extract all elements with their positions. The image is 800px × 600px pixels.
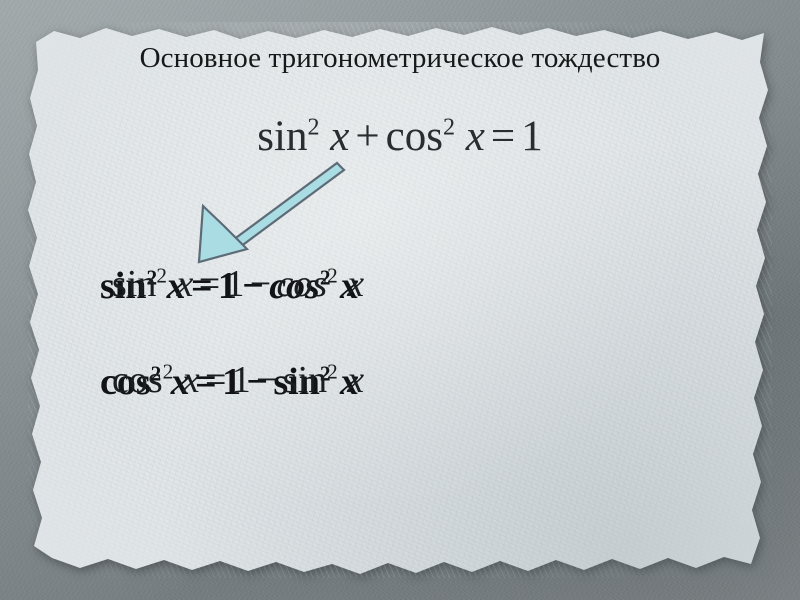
derived-identity-cos: cos2 x=1−sin2 x cos2 x=1−sin2 x bbox=[0, 358, 800, 418]
eq2g-function: cos bbox=[112, 359, 163, 401]
eq1g-rhs-exponent: 2 bbox=[327, 263, 338, 287]
formula-cos-exponent: 2 bbox=[443, 115, 455, 141]
formula-equals-operator: = bbox=[485, 113, 521, 160]
eq2g-variable: x bbox=[183, 359, 200, 401]
eq1g-minus: − bbox=[244, 263, 276, 305]
eq2g-equals: = bbox=[200, 359, 232, 401]
eq1g-equals: = bbox=[193, 263, 225, 305]
derived-identity-sin: sin2 x=1−cos2 x sin2 x=1−cos2 x bbox=[0, 262, 800, 322]
eq1g-rhs-function: cos bbox=[277, 263, 328, 305]
eq1g-exponent: 2 bbox=[156, 263, 167, 287]
eq2g-rhs-variable: x bbox=[347, 359, 364, 401]
eq2g-minus: − bbox=[251, 359, 283, 401]
eq2g-exponent: 2 bbox=[163, 359, 174, 383]
derived-identity-sin-layer-ghost: sin2 x=1−cos2 x bbox=[112, 262, 364, 306]
derived-identity-cos-layer-ghost: cos2 x=1−sin2 x bbox=[112, 358, 364, 402]
eq1g-rhs-variable: x bbox=[347, 263, 364, 305]
formula-result-value: 1 bbox=[521, 113, 543, 160]
formula-cos-function: cos bbox=[386, 113, 443, 160]
eq2g-one: 1 bbox=[232, 359, 251, 401]
down-left-arrow-icon bbox=[186, 150, 362, 276]
slide-canvas: Основное тригонометрическое тождество si… bbox=[0, 0, 800, 600]
page-title: Основное тригонометрическое тождество bbox=[0, 42, 800, 75]
eq1g-variable: x bbox=[177, 263, 194, 305]
eq2g-rhs-function: sin bbox=[283, 359, 327, 401]
formula-cos-variable: x bbox=[466, 113, 485, 160]
eq1g-one: 1 bbox=[225, 263, 244, 305]
formula-sin-exponent: 2 bbox=[307, 115, 319, 141]
eq1g-function: sin bbox=[112, 263, 156, 305]
eq2g-rhs-exponent: 2 bbox=[327, 359, 338, 383]
main-identity-formula: sin2 x+cos2 x=1 bbox=[0, 112, 800, 161]
